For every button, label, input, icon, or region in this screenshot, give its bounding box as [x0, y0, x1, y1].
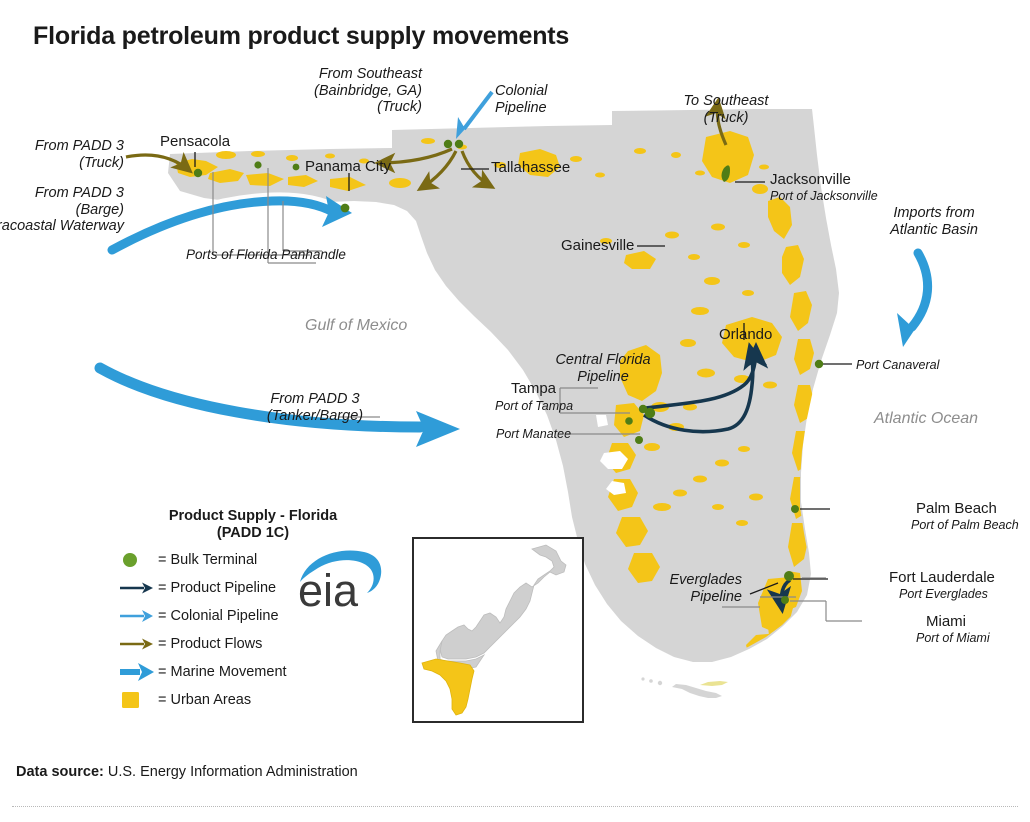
thick-blue-arrow-icon	[118, 661, 158, 683]
data-source-value: U.S. Energy Information Administration	[108, 764, 358, 780]
lightblue-arrow-icon	[118, 605, 158, 627]
port-label-everglades: Port Everglades	[899, 587, 988, 601]
imports-atlantic-line2: Atlantic Basin	[874, 222, 994, 239]
legend-product-flows[interactable]: = Product Flows	[118, 630, 388, 658]
legend-urban-areas-label: = Urban Areas	[158, 692, 251, 708]
locator-inset-map	[412, 537, 584, 723]
port-label-jacksonville: Port of Jacksonville	[770, 189, 878, 203]
inset-east-coast-states	[440, 545, 566, 659]
everglades-pipeline-line2: Pipeline	[644, 589, 742, 606]
port-label-canaveral: Port Canaveral	[856, 358, 939, 372]
everglades-pipeline-line1: Everglades	[644, 572, 742, 589]
city-label-tampa: Tampa	[511, 380, 556, 397]
to-southeast-line1: To Southeast	[666, 93, 786, 110]
legend-marine-movement[interactable]: = Marine Movement	[118, 658, 388, 686]
from-padd3-barge-annotation: From PADD 3 (Barge) via Intracoastal Wat…	[0, 185, 124, 235]
page-title: Florida petroleum product supply movemen…	[33, 22, 569, 51]
eia-logo: eia	[296, 546, 384, 610]
imports-atlantic-line1: Imports from	[874, 205, 994, 222]
from-southeast-line1: From Southeast	[300, 66, 422, 83]
everglades-pipeline-arrow	[781, 580, 790, 609]
legend-product-flows-label: = Product Flows	[158, 636, 262, 652]
from-padd3-barge-line2: (Barge)	[0, 202, 124, 219]
imports-atlantic-basin-annotation: Imports from Atlantic Basin	[874, 205, 994, 238]
from-southeast-line3: (Truck)	[300, 99, 422, 116]
from-padd3-tanker-line2: (Tanker/Barge)	[250, 408, 380, 425]
port-label-miami: Port of Miami	[916, 631, 990, 645]
map-legend: Product Supply - Florida (PADD 1C) = Bul…	[118, 508, 388, 714]
central-fl-pipeline-line2: Pipeline	[543, 369, 663, 386]
legend-bulk-terminal-label: = Bulk Terminal	[158, 552, 257, 568]
footer-divider	[12, 806, 1018, 807]
city-label-panama-city: Panama City	[305, 158, 391, 175]
eia-wordmark: eia	[298, 565, 359, 610]
colonial-pipeline-annotation: Colonial Pipeline	[495, 83, 547, 116]
from-padd3-truck-annotation: From PADD 3 (Truck)	[12, 138, 124, 171]
legend-title-line2: (PADD 1C)	[118, 525, 388, 542]
city-label-fort-lauderdale: Fort Lauderdale	[889, 569, 995, 586]
city-label-orlando: Orlando	[719, 326, 772, 343]
legend-marine-movement-label: = Marine Movement	[158, 664, 287, 680]
central-fl-pipeline-line1: Central Florida	[543, 352, 663, 369]
colonial-pipeline-line1: Colonial	[495, 83, 547, 100]
data-source-footer: Data source: U.S. Energy Information Adm…	[16, 764, 358, 780]
inset-svg	[414, 539, 582, 721]
legend-title-line1: Product Supply - Florida	[118, 508, 388, 525]
city-label-palm-beach: Palm Beach	[916, 500, 997, 517]
central-florida-pipeline-annotation: Central Florida Pipeline	[543, 352, 663, 385]
colonial-pipeline-line2: Pipeline	[495, 100, 547, 117]
to-southeast-annotation: To Southeast (Truck)	[666, 93, 786, 126]
ports-of-florida-panhandle-annotation: Ports of Florida Panhandle	[186, 247, 346, 264]
navy-arrow-icon	[118, 577, 158, 599]
data-source-label: Data source:	[16, 764, 104, 780]
city-label-pensacola: Pensacola	[160, 133, 230, 150]
from-padd3-barge-line3: via Intracoastal Waterway	[0, 218, 124, 235]
product-flow-padd3-truck	[126, 155, 190, 171]
port-label-tampa: Port of Tampa	[495, 399, 573, 413]
legend-urban-areas[interactable]: = Urban Areas	[118, 686, 388, 714]
legend-product-pipeline-label: = Product Pipeline	[158, 580, 276, 596]
port-label-manatee: Port Manatee	[496, 427, 571, 441]
city-label-jacksonville: Jacksonville	[770, 171, 851, 188]
inset-florida-highlight	[422, 659, 474, 715]
gulf-of-mexico-label: Gulf of Mexico	[305, 317, 407, 335]
from-padd3-tanker-line1: From PADD 3	[250, 391, 380, 408]
from-southeast-bainbridge-annotation: From Southeast (Bainbridge, GA) (Truck)	[300, 66, 422, 116]
city-label-gainesville: Gainesville	[561, 237, 634, 254]
yellow-square-icon	[118, 689, 158, 711]
marine-arrow-intracoastal	[112, 196, 352, 250]
marine-arrow-atlantic-imports	[897, 253, 928, 347]
legend-colonial-pipeline-label: = Colonial Pipeline	[158, 608, 279, 624]
from-padd3-barge-line1: From PADD 3	[0, 185, 124, 202]
from-padd3-truck-line1: From PADD 3	[12, 138, 124, 155]
everglades-pipeline-annotation: Everglades Pipeline	[644, 572, 742, 605]
from-padd3-tanker-barge-annotation: From PADD 3 (Tanker/Barge)	[250, 391, 380, 424]
from-southeast-line2: (Bainbridge, GA)	[300, 83, 422, 100]
city-label-miami: Miami	[926, 613, 966, 630]
from-padd3-truck-line2: (Truck)	[12, 155, 124, 172]
port-label-palm-beach: Port of Palm Beach	[911, 518, 1019, 532]
olive-arrow-icon	[118, 633, 158, 655]
city-label-tallahassee: Tallahassee	[491, 159, 570, 176]
green-dot-icon	[118, 549, 158, 571]
colonial-pipeline-arrow	[456, 92, 492, 139]
to-southeast-line2: (Truck)	[666, 110, 786, 127]
atlantic-ocean-label: Atlantic Ocean	[874, 410, 978, 428]
